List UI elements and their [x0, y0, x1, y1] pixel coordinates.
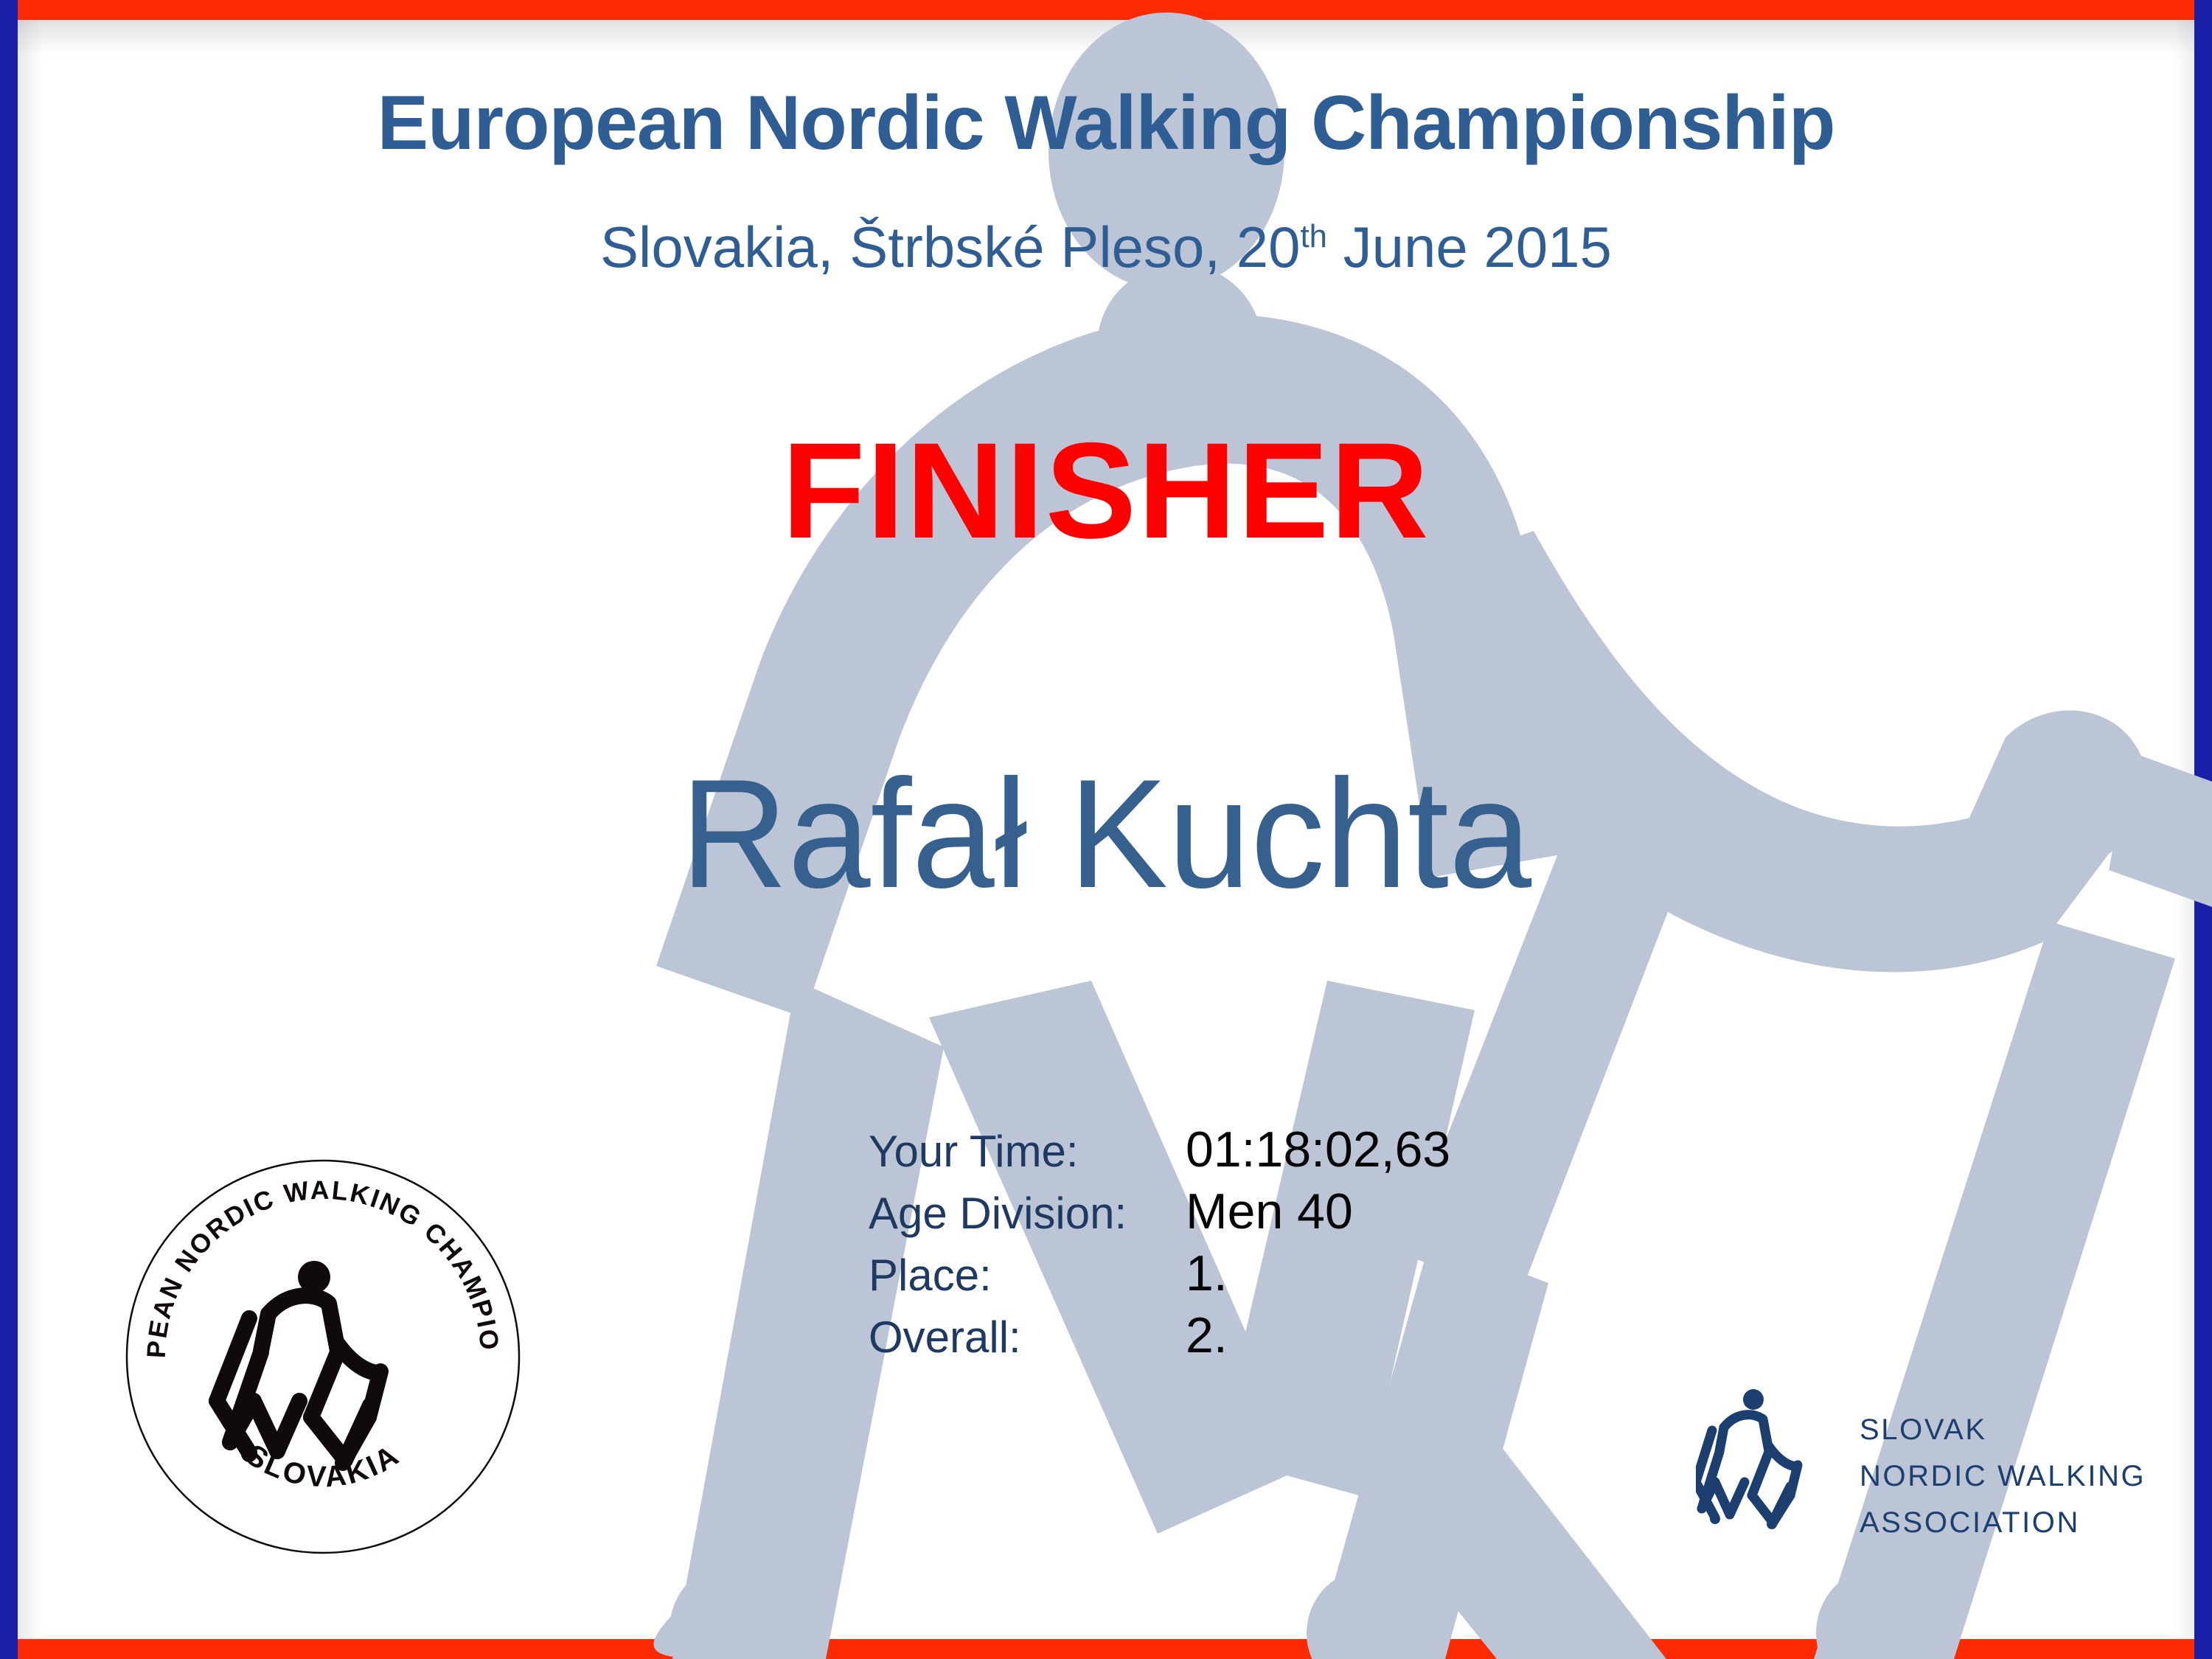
pole-tip — [1710, 1514, 1720, 1524]
status-badge: FINISHER — [0, 413, 2212, 569]
result-value: 01:18:02,63 — [1186, 1121, 1450, 1178]
results-block: Your Time: 01:18:02,63 Age Division: Men… — [869, 1121, 1450, 1368]
event-subtitle-prefix: Slovakia, Štrbské Pleso, 20 — [600, 215, 1300, 279]
certificate-page: European Nordic Walking Championship Slo… — [0, 0, 2212, 1659]
result-row-overall: Overall: 2. — [869, 1307, 1450, 1368]
result-label: Your Time: — [869, 1126, 1186, 1177]
event-title: European Nordic Walking Championship — [0, 80, 2212, 167]
snwa-line-3: ASSOCIATION — [1860, 1506, 2080, 1539]
snwa-association-logo: SLOVAK NORDIC WALKING ASSOCIATION — [1696, 1379, 2153, 1548]
pole-tip — [335, 1455, 351, 1471]
result-value: Men 40 — [1186, 1183, 1353, 1240]
walker-grip — [1792, 1461, 1802, 1471]
result-row-age-division: Age Division: Men 40 — [869, 1183, 1450, 1245]
nordic-walker-figure-icon — [1696, 1415, 1798, 1523]
walker-grip — [371, 1365, 387, 1381]
event-subtitle-ordinal: th — [1301, 218, 1327, 254]
result-row-your-time: Your Time: 01:18:02,63 — [869, 1121, 1450, 1183]
snwa-line-2: NORDIC WALKING — [1860, 1460, 2146, 1492]
snwa-line-1: SLOVAK — [1860, 1413, 1987, 1446]
result-label: Overall: — [869, 1312, 1186, 1363]
pole-tip — [1767, 1519, 1777, 1529]
result-label: Place: — [869, 1250, 1186, 1301]
result-value: 2. — [1186, 1307, 1228, 1364]
result-value: 1. — [1186, 1245, 1228, 1302]
event-subtitle-suffix: June 2015 — [1327, 215, 1612, 279]
result-label: Age Division: — [869, 1188, 1186, 1239]
enwc-championship-logo: EUROPEAN NORDIC WALKING CHAMPIONSHIP SLO… — [124, 1158, 522, 1556]
event-subtitle: Slovakia, Štrbské Pleso, 20th June 2015 — [0, 214, 2212, 281]
pole-tip — [241, 1446, 257, 1462]
result-row-place: Place: 1. — [869, 1245, 1450, 1307]
walker-head — [1743, 1389, 1764, 1410]
walker-head — [298, 1261, 330, 1293]
athlete-name: Rafał Kuchta — [44, 745, 2168, 923]
